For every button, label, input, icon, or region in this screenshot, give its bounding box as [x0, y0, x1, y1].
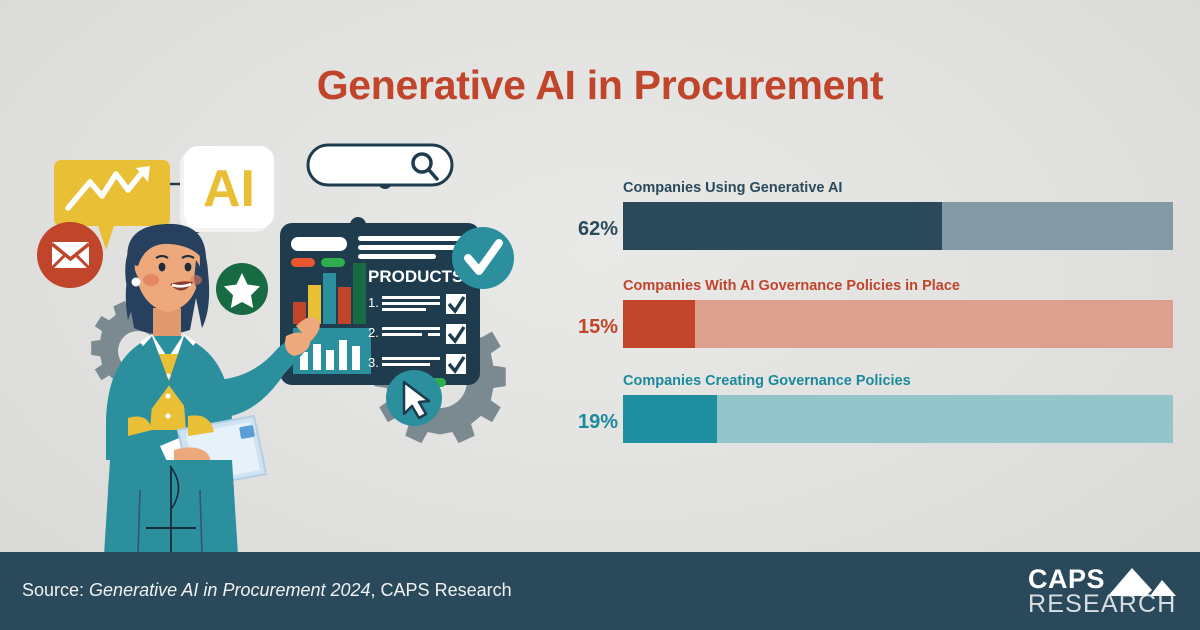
search-bar[interactable]	[308, 145, 452, 185]
infographic-canvas: Generative AI in Procurement	[0, 0, 1200, 630]
chart-row: Companies With AI Governance Policies in…	[560, 278, 1180, 368]
email-icon	[37, 222, 103, 288]
source-citation: Source: Generative AI in Procurement 202…	[22, 580, 512, 601]
ai-badge-card: AI	[180, 146, 274, 232]
page-title: Generative AI in Procurement	[0, 62, 1200, 109]
logo-caps-text: CAPS	[1028, 566, 1105, 593]
footer-bar: Source: Generative AI in Procurement 202…	[0, 552, 1200, 630]
bar-fill	[623, 300, 695, 348]
dashboard-panel: PRODUCTS 1. 2. 3.	[280, 223, 480, 387]
bar-track	[623, 395, 1173, 443]
bar-value: 19%	[560, 411, 618, 434]
bar-chart: Companies Using Generative AI 62% Compan…	[560, 180, 1180, 470]
bar-track	[623, 202, 1173, 250]
chart-row: Companies Using Generative AI 62%	[560, 180, 1180, 270]
bar-fill	[623, 395, 717, 443]
bar-value: 15%	[560, 316, 618, 339]
verified-check-badge-icon	[452, 227, 514, 289]
bar-label: Companies With AI Governance Policies in…	[623, 278, 960, 294]
source-title: Generative AI in Procurement 2024	[89, 580, 371, 600]
list-number: 2.	[368, 325, 379, 340]
caps-research-logo: CAPS RESEARCH	[1006, 564, 1186, 622]
hero-illustration: AI	[10, 130, 550, 555]
chart-row: Companies Creating Governance Policies 1…	[560, 373, 1180, 463]
star-badge-icon	[216, 263, 268, 315]
bar-track	[623, 300, 1173, 348]
dashboard-products-heading: PRODUCTS	[368, 267, 463, 286]
source-suffix: , CAPS Research	[371, 580, 512, 600]
list-number: 3.	[368, 355, 379, 370]
bar-label: Companies Creating Governance Policies	[623, 373, 911, 389]
ai-badge-label: AI	[203, 160, 255, 218]
list-number: 1.	[368, 295, 379, 310]
cursor-badge-icon	[386, 370, 442, 426]
bar-fill	[623, 202, 942, 250]
bar-value: 62%	[560, 218, 618, 241]
source-prefix: Source:	[22, 580, 89, 600]
bar-label: Companies Using Generative AI	[623, 180, 842, 196]
mountain-icon	[1106, 566, 1178, 600]
illustration-svg: AI	[10, 130, 550, 555]
